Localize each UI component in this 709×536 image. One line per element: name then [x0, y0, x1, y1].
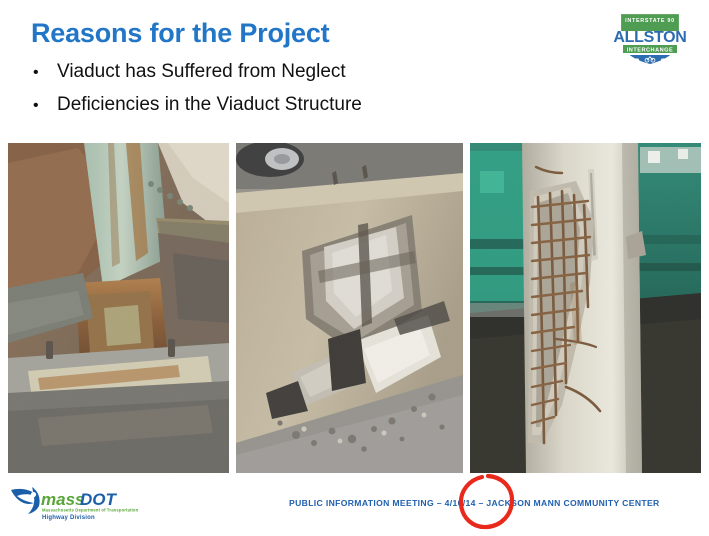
photo-spalled-concrete-barrier: [236, 143, 463, 473]
shield-banner-text: INTERSTATE 90: [625, 18, 675, 24]
presentation-slide: Reasons for the Project • Viaduct has Su…: [0, 0, 709, 536]
page-title: Reasons for the Project: [31, 18, 329, 49]
bullet-marker-icon: •: [33, 98, 57, 114]
massdot-tagline: Massachusetts Department of Transportati…: [42, 508, 139, 513]
footer-meeting-info: PUBLIC INFORMATION MEETING – 4/10/14 – J…: [289, 498, 660, 508]
massdot-word-dot: DOT: [80, 490, 118, 509]
photo-rusted-steel-bearing: [8, 143, 229, 473]
bullet-text: Deficiencies in the Viaduct Structure: [57, 95, 362, 116]
photo-column-exposed-rebar: [470, 143, 701, 473]
massdot-logo: mass DOT Massachusetts Department of Tra…: [8, 484, 158, 522]
bullet-marker-icon: •: [33, 65, 57, 81]
massdot-word-mass: mass: [41, 490, 84, 509]
bullet-text: Viaduct has Suffered from Neglect: [57, 62, 346, 83]
bullet-item: • Viaduct has Suffered from Neglect: [33, 62, 346, 83]
shield-sub-text: INTERCHANGE: [627, 47, 674, 53]
shield-main-text: ALLSTON: [613, 29, 686, 46]
massdot-division: Highway Division: [42, 515, 95, 521]
bullet-item: • Deficiencies in the Viaduct Structure: [33, 95, 362, 116]
allston-interchange-shield-logo: INTERSTATE 90 ALLSTON INTERCHANGE: [606, 5, 694, 67]
